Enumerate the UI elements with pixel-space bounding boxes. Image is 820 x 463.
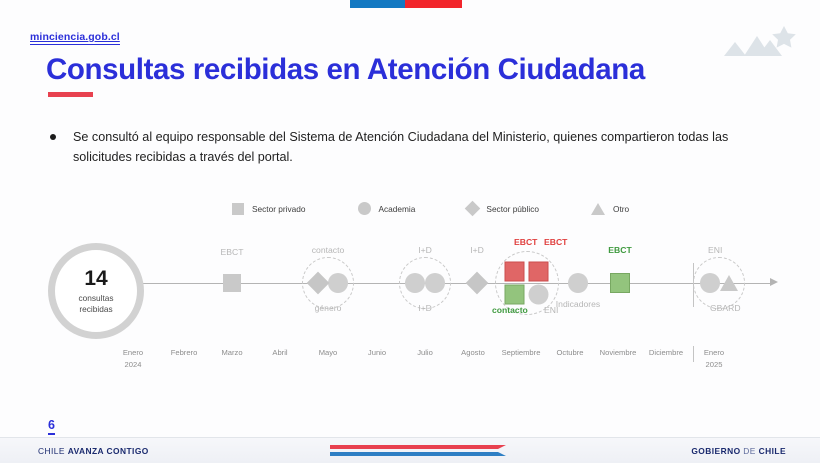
triangle-icon bbox=[591, 203, 605, 215]
node-label-bottom: género bbox=[315, 303, 342, 313]
square-icon bbox=[529, 262, 549, 282]
timeline-node-id-julio[interactable]: I+D I+D bbox=[393, 235, 457, 340]
mountains-star-icon bbox=[724, 26, 810, 60]
page-number: 6 bbox=[48, 419, 55, 435]
node-label-top: EBCT bbox=[221, 247, 244, 257]
month-tick: Febrero bbox=[171, 348, 198, 357]
square-icon bbox=[232, 203, 244, 215]
timeline-arrow-icon bbox=[770, 278, 778, 286]
legend-label: Academia bbox=[379, 204, 416, 214]
diamond-icon bbox=[465, 201, 481, 217]
kpi-total-circle: 14 consultas recibidas bbox=[48, 243, 144, 339]
node-label-bottom: GBARD bbox=[710, 303, 741, 313]
month-tick: Julio bbox=[417, 348, 433, 357]
bullet-text: Se consultó al equipo responsable del Si… bbox=[73, 128, 733, 167]
month-tick: Mayo bbox=[319, 348, 338, 357]
legend-item-academia: Academia bbox=[358, 202, 416, 215]
month-tick: Octubre bbox=[556, 348, 583, 357]
node-label-top: EBCT bbox=[608, 245, 631, 255]
node-shapes bbox=[308, 273, 348, 293]
kpi-number: 14 bbox=[84, 268, 107, 289]
node-label-bottom: I+D bbox=[418, 303, 432, 313]
chart-legend: Sector privado Academia Sector público O… bbox=[232, 202, 629, 215]
timeline: 14 consultas recibidas EBCT contacto gén… bbox=[0, 235, 820, 340]
footer-gobierno-de-chile: GOBIERNO DE CHILE bbox=[691, 446, 786, 456]
month-tick: Junio bbox=[368, 348, 386, 357]
circle-icon bbox=[700, 273, 720, 293]
node-label-top: I+D bbox=[418, 245, 432, 255]
ribbon-red bbox=[405, 0, 462, 8]
square-icon bbox=[505, 285, 525, 305]
node-label-ebct-1: EBCT bbox=[514, 237, 537, 247]
month-tick: Septiembre bbox=[502, 348, 541, 357]
node-label-top: I+D bbox=[470, 245, 484, 255]
timeline-node-ebct-marzo[interactable]: EBCT bbox=[202, 235, 262, 340]
timeline-month-axis: Enero 2024 Febrero Marzo Abril Mayo Juni… bbox=[0, 348, 820, 378]
node-shapes bbox=[467, 273, 487, 293]
flag-swoosh-icon bbox=[330, 440, 510, 462]
circle-icon bbox=[328, 273, 348, 293]
month-tick: Noviembre bbox=[600, 348, 637, 357]
legend-item-sector-privado: Sector privado bbox=[232, 203, 306, 215]
ribbon-blue bbox=[350, 0, 405, 8]
month-tick: Diciembre bbox=[649, 348, 683, 357]
kpi-caption-line2: recibidas bbox=[79, 304, 112, 314]
month-tick: Enero 2025 bbox=[704, 348, 724, 369]
circle-icon bbox=[568, 273, 588, 293]
timeline-node-contacto-genero[interactable]: contacto género bbox=[296, 235, 360, 340]
square-icon bbox=[505, 262, 525, 282]
node-label-contacto: contacto bbox=[492, 305, 528, 315]
legend-label: Otro bbox=[613, 204, 629, 214]
node-label-top: contacto bbox=[312, 245, 345, 255]
month-tick: Enero 2024 bbox=[123, 348, 143, 369]
timeline-node-eni-gbard[interactable]: ENI GBARD bbox=[688, 235, 750, 340]
node-shapes bbox=[610, 273, 630, 293]
kpi-caption: consultas recibidas bbox=[78, 293, 113, 314]
legend-item-sector-publico: Sector público bbox=[467, 203, 539, 214]
page-title: Consultas recibidas en Atención Ciudadan… bbox=[46, 55, 645, 85]
month-tick: Agosto bbox=[461, 348, 485, 357]
circle-icon bbox=[405, 273, 425, 293]
bullet-dot-icon bbox=[50, 134, 56, 140]
node-shapes bbox=[505, 262, 550, 305]
timeline-node-ebct-noviembre[interactable]: EBCT bbox=[594, 235, 646, 340]
node-shapes bbox=[405, 273, 445, 293]
square-icon bbox=[610, 273, 630, 293]
site-link[interactable]: minciencia.gob.cl bbox=[30, 31, 120, 45]
footer-tagline: CHILE AVANZA CONTIGO bbox=[38, 446, 149, 456]
slide-footer: CHILE AVANZA CONTIGO GOBIERNO DE CHILE bbox=[0, 437, 820, 463]
timeline-node-septiembre-cluster[interactable]: EBCT EBCT contacto ENI bbox=[495, 235, 559, 340]
node-shapes bbox=[700, 273, 738, 293]
legend-item-otro: Otro bbox=[591, 203, 629, 215]
node-shape-grid bbox=[505, 262, 550, 305]
diamond-icon bbox=[307, 272, 330, 295]
kpi-caption-line1: consultas bbox=[78, 293, 113, 303]
month-axis-divider bbox=[693, 346, 694, 362]
diamond-icon bbox=[466, 272, 489, 295]
month-tick: Marzo bbox=[221, 348, 242, 357]
month-tick: Abril bbox=[272, 348, 287, 357]
legend-label: Sector privado bbox=[252, 204, 306, 214]
node-label-top: ENI bbox=[708, 245, 722, 255]
node-shapes bbox=[568, 273, 588, 293]
legend-label: Sector público bbox=[486, 204, 539, 214]
triangle-icon bbox=[720, 275, 738, 291]
title-underline-rule bbox=[48, 92, 93, 97]
circle-icon bbox=[529, 285, 549, 305]
node-shapes bbox=[223, 274, 241, 292]
circle-icon bbox=[425, 273, 445, 293]
square-icon bbox=[223, 274, 241, 292]
circle-icon bbox=[358, 202, 371, 215]
bullet-list: Se consultó al equipo responsable del Si… bbox=[50, 128, 750, 167]
slide-canvas: minciencia.gob.cl Consultas recibidas en… bbox=[0, 0, 820, 463]
